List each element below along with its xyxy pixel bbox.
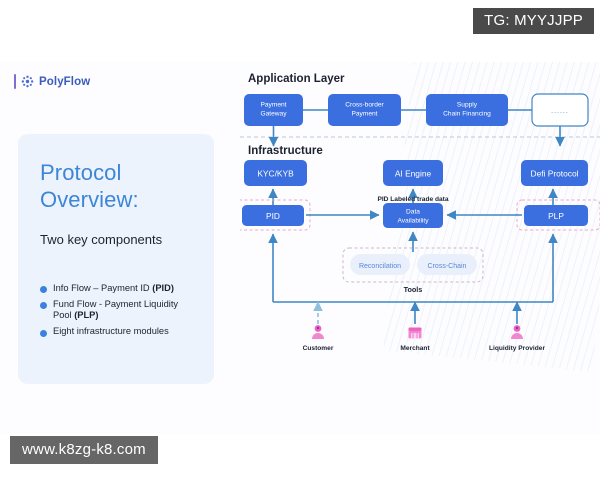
tool-chip-reconcilation[interactable]: Reconcilation	[350, 254, 410, 275]
actor-customer[interactable]: Customer	[303, 325, 334, 352]
infra-box-plp[interactable]: PLP	[524, 205, 588, 226]
page-title: Protocol Overview:	[40, 160, 194, 214]
app-box-cross-border-payment[interactable]: Cross-border Payment	[328, 94, 401, 126]
list-item-label: Info Flow – Payment ID (PID)	[53, 283, 174, 295]
app-box-label: Chain Financing	[443, 111, 491, 118]
app-box-more-apps[interactable]: ......	[532, 94, 588, 126]
infra-box-label: Defi Protocol	[531, 169, 579, 179]
infra-box-defi-protocol[interactable]: Defi Protocol	[521, 160, 588, 186]
list-item: Fund Flow - Payment Liquidity Pool (PLP)	[40, 299, 194, 323]
protocol-overview-card: Protocol Overview: Two key components In…	[18, 134, 214, 384]
telegram-watermark: TG: MYYJJPP	[473, 8, 594, 34]
site-watermark: www.k8zg-k8.com	[10, 436, 158, 464]
actor-label: Liquidity Provider	[489, 345, 545, 352]
infra-box-label: Availability	[397, 218, 429, 225]
tool-chip-label: Cross-Chain	[428, 263, 467, 270]
brand-logo: PolyFlow	[14, 74, 90, 89]
brand-accent-bar	[14, 74, 16, 89]
infra-box-pid[interactable]: PID	[242, 205, 304, 226]
app-box-label: Supply	[457, 102, 478, 109]
brand-name: PolyFlow	[39, 76, 90, 88]
actor-liquidity-provider[interactable]: Liquidity Provider	[489, 325, 545, 352]
tool-chip-label: Reconcilation	[359, 263, 401, 270]
edge-label-pid-trade-data: PID Labeled trade data	[377, 196, 448, 203]
bullet-dot-icon	[40, 302, 47, 309]
app-box-payment-gateway[interactable]: Payment Gateway	[244, 94, 303, 126]
bullet-dot-icon	[40, 286, 47, 293]
page-title-line1: Protocol	[40, 160, 194, 187]
store-icon	[409, 328, 422, 339]
infra-box-label: Data	[406, 209, 420, 216]
section-title-infrastructure: Infrastructure	[248, 145, 323, 157]
app-box-label: Payment	[351, 111, 377, 118]
page-title-line2: Overview:	[40, 187, 194, 214]
app-box-label: Cross-border	[345, 102, 384, 109]
actor-label: Customer	[303, 345, 334, 352]
flower-gear-icon	[21, 75, 34, 88]
infra-box-label: PID	[266, 211, 280, 221]
list-item: Eight infrastructure modules	[40, 326, 194, 338]
page-subtitle: Two key components	[40, 232, 194, 247]
list-item-label: Fund Flow - Payment Liquidity Pool (PLP)	[53, 299, 194, 323]
actor-merchant[interactable]: Merchant	[400, 328, 430, 353]
slide-canvas: PolyFlow Protocol Overview: Two key comp…	[0, 62, 600, 434]
infra-box-label: AI Engine	[395, 169, 432, 179]
infra-box-data-availability[interactable]: Data Availability	[383, 203, 443, 228]
tool-chip-cross-chain[interactable]: Cross-Chain	[417, 254, 477, 275]
actor-label: Merchant	[400, 345, 430, 352]
bullet-dot-icon	[40, 330, 47, 337]
architecture-diagram: Application Layer Infrastructure Payment…	[240, 62, 600, 434]
list-item-label: Eight infrastructure modules	[53, 326, 169, 338]
infra-box-ai-engine[interactable]: AI Engine	[383, 160, 443, 186]
section-title-application-layer: Application Layer	[248, 73, 345, 85]
list-item: Info Flow – Payment ID (PID)	[40, 283, 194, 295]
person-icon	[312, 325, 324, 339]
app-box-label: Payment	[260, 102, 286, 109]
ellipsis-icon: ......	[551, 108, 569, 115]
app-box-label: Gateway	[260, 111, 287, 118]
infra-box-kyc-kyb[interactable]: KYC/KYB	[244, 160, 307, 186]
infra-box-label: PLP	[548, 211, 564, 221]
person-icon	[511, 325, 523, 339]
infra-box-label: KYC/KYB	[257, 169, 294, 179]
key-components-list: Info Flow – Payment ID (PID) Fund Flow -…	[40, 283, 194, 339]
tools-group-label: Tools	[404, 285, 423, 294]
app-box-supply-chain-financing[interactable]: Supply Chain Financing	[426, 94, 508, 126]
